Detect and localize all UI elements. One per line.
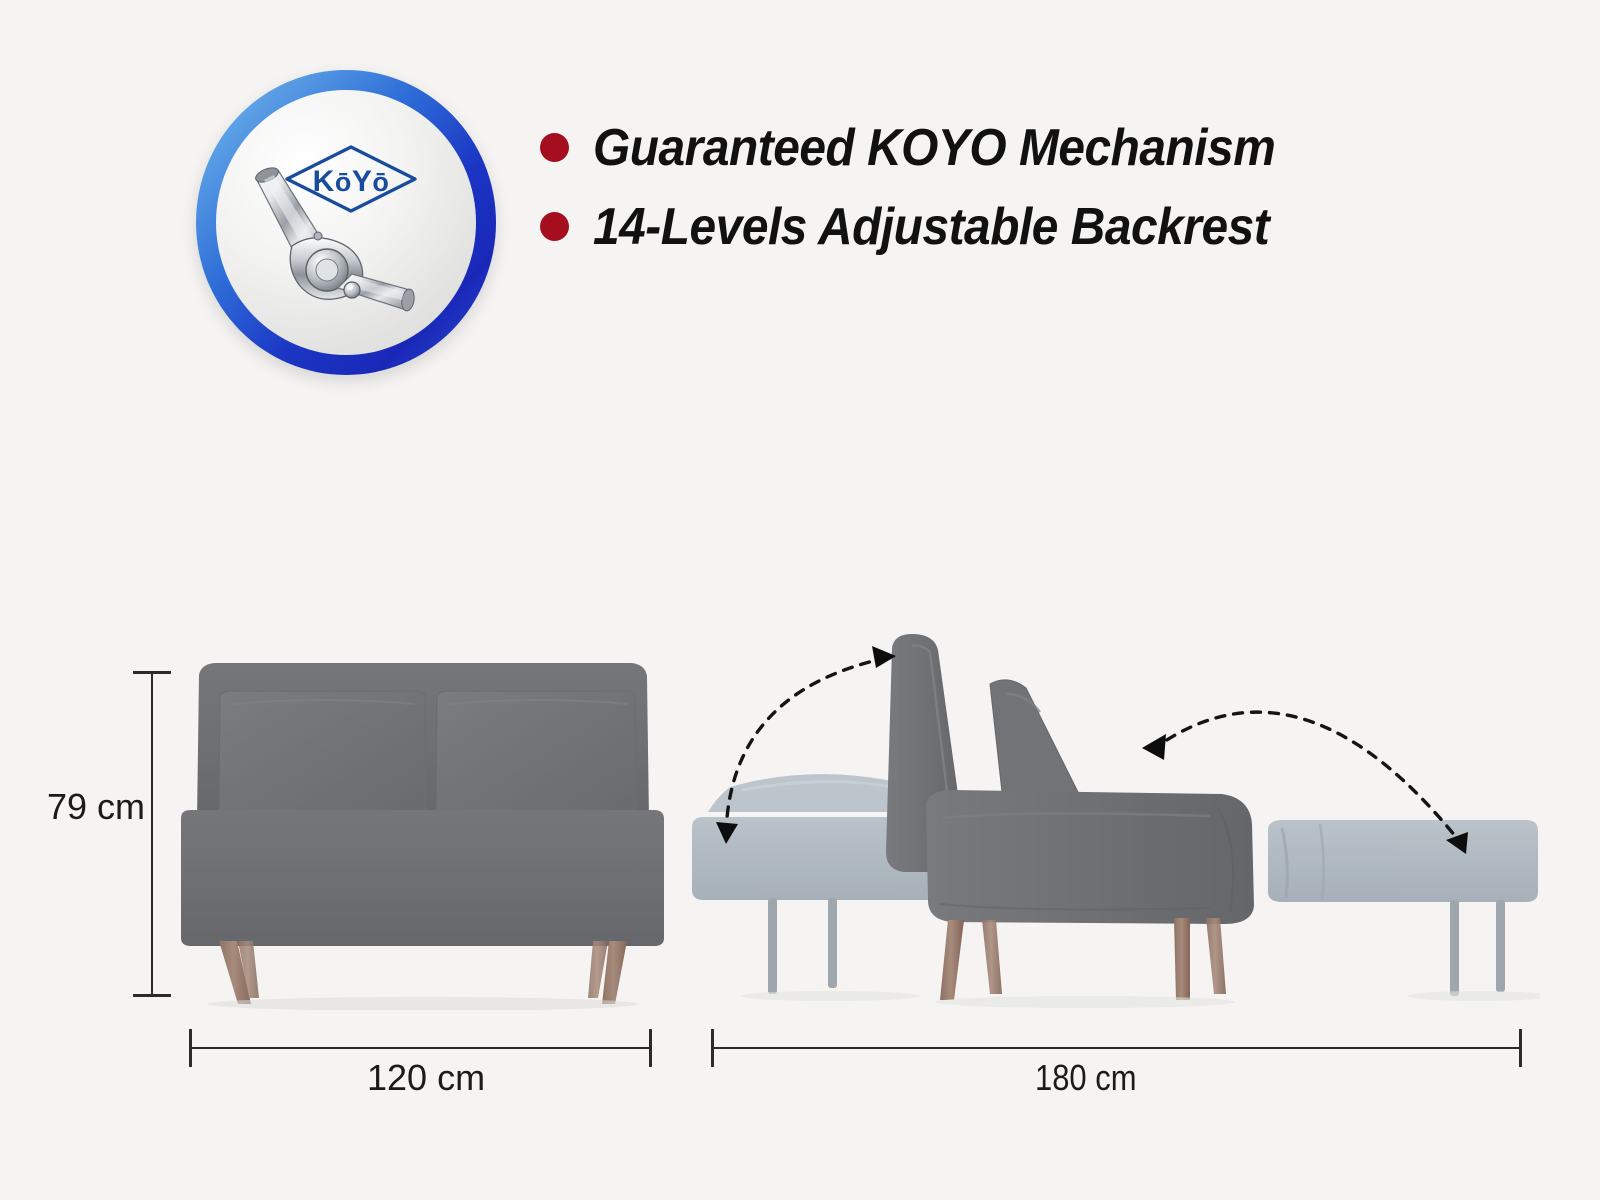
sofa-leg bbox=[940, 920, 964, 1000]
seat-block bbox=[926, 790, 1254, 924]
width-tick-right bbox=[649, 1029, 652, 1067]
sofa-side-main bbox=[886, 634, 1254, 1000]
ghost-bed-right bbox=[1268, 820, 1538, 996]
height-tick-top bbox=[133, 671, 171, 674]
sofa-leg bbox=[1206, 918, 1226, 994]
badge-inner-face: KōYō bbox=[216, 90, 476, 355]
length-tick-left bbox=[711, 1029, 714, 1067]
feature-item: Guaranteed KOYO Mechanism bbox=[540, 108, 1335, 187]
fold-arrow-left bbox=[716, 646, 896, 844]
sofa-leg bbox=[982, 920, 1002, 994]
back-cushion-left bbox=[219, 691, 427, 816]
height-dimension-label: 79 cm bbox=[47, 786, 145, 828]
sofa-seat-base bbox=[181, 810, 664, 946]
height-tick-bottom bbox=[133, 994, 171, 997]
koyo-mechanism-badge: KōYō bbox=[196, 70, 496, 375]
sofa-leg bbox=[1174, 918, 1190, 1000]
length-dimension-line bbox=[712, 1047, 1522, 1049]
width-dimension-label: 120 cm bbox=[367, 1057, 485, 1099]
feature-label: Guaranteed KOYO Mechanism bbox=[593, 120, 1275, 176]
feature-list: Guaranteed KOYO Mechanism 14-Levels Adju… bbox=[540, 108, 1335, 266]
length-dimension-label: 180 cm bbox=[1035, 1057, 1137, 1099]
feature-label: 14-Levels Adjustable Backrest bbox=[593, 199, 1269, 255]
height-dimension-line bbox=[151, 672, 153, 997]
sofa-side-view-folding bbox=[690, 612, 1540, 1012]
back-cushion-right bbox=[436, 691, 637, 816]
sofa-front-view bbox=[175, 638, 670, 1010]
length-tick-right bbox=[1519, 1029, 1522, 1067]
bullet-dot-icon bbox=[540, 133, 569, 162]
bullet-dot-icon bbox=[540, 212, 569, 241]
width-dimension-line bbox=[190, 1047, 652, 1049]
feature-item: 14-Levels Adjustable Backrest bbox=[540, 187, 1335, 266]
infographic-canvas: KōYō bbox=[0, 0, 1600, 1200]
hinge-mechanism-icon bbox=[234, 164, 434, 314]
width-tick-left bbox=[189, 1029, 192, 1067]
